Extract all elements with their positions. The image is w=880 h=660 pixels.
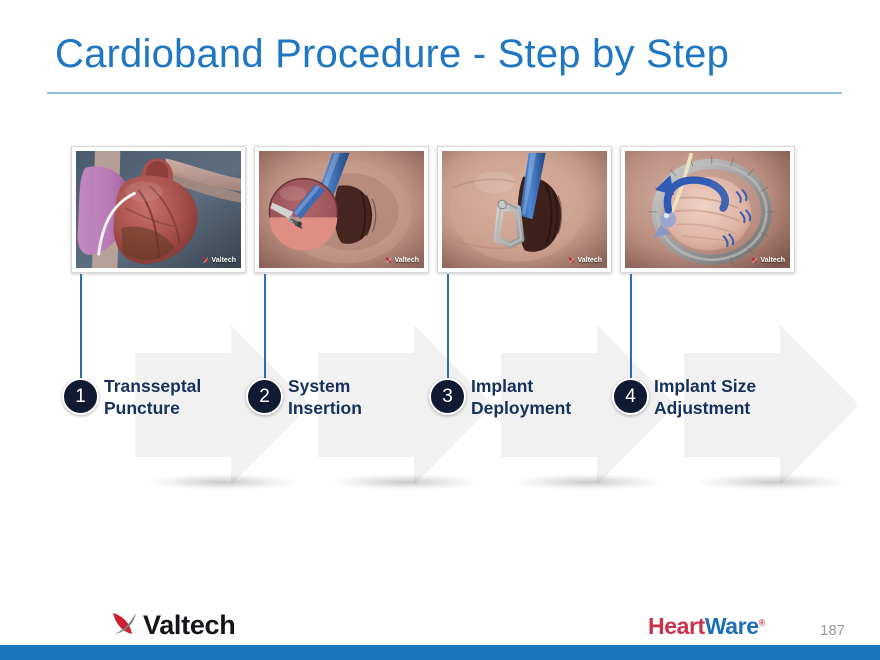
valtech-logo-text: Valtech [143,610,235,641]
valtech-mark-icon [568,256,575,264]
step-image-4-inner: Valtech [625,151,790,268]
valtech-swoosh-icon [751,256,758,264]
step-image-2[interactable]: Valtech [254,146,429,273]
connector-line-4 [630,274,632,382]
valtech-watermark-4: Valtech [751,256,785,264]
connector-line-2 [264,274,266,382]
valtech-watermark-2: Valtech [385,256,419,264]
step-image-4[interactable]: Valtech [620,146,795,273]
step-label-4-line2: Adjustment [654,397,756,419]
valtech-swoosh-icon [385,256,392,264]
step-label-4-line1: Implant Size [654,375,756,397]
implant-deployment-illustration-svg [442,151,607,268]
step-label-2: System Insertion [288,375,362,420]
heartware-registered-mark: ® [759,617,765,627]
valtech-swoosh-icon [568,256,575,264]
valtech-watermark-1: Valtech [202,256,236,264]
step-label-1: Transseptal Puncture [104,375,201,420]
valtech-logo-icon [110,608,140,643]
implant-size-adjustment-illustration-svg [625,151,790,268]
valtech-swoosh-icon [110,608,140,638]
chevron-shadow-1 [148,474,298,490]
step-image-3-inner: Valtech [442,151,607,268]
heart-catheter-illustration-svg [76,151,241,268]
chevron-shadow-3 [514,474,664,490]
heartware-logo-ware: Ware [705,613,759,639]
step-label-1-line1: Transseptal [104,375,201,397]
step-number-2[interactable]: 2 [246,378,283,415]
valtech-mark-icon [751,256,758,264]
step-label-1-line2: Puncture [104,397,201,419]
step-label-3: Implant Deployment [471,375,571,420]
step-number-3[interactable]: 3 [429,378,466,415]
valtech-watermark-4-text: Valtech [760,257,785,264]
connector-line-1 [80,274,82,382]
valtech-mark-icon [202,256,209,264]
chevron-shadow-4 [697,474,847,490]
footer-bar [0,645,880,660]
valtech-watermark-1-text: Valtech [211,257,236,264]
page-number: 187 [820,622,845,639]
step-image-1[interactable]: Valtech [71,146,246,273]
heartware-logo: HeartWare® [648,613,765,640]
procedure-steps-diagram: Valtech [0,0,880,660]
step-number-4[interactable]: 4 [612,378,649,415]
valtech-mark-icon [385,256,392,264]
system-insertion-illustration-svg [259,151,424,268]
valtech-watermark-3: Valtech [568,256,602,264]
step-label-2-line2: Insertion [288,397,362,419]
heartware-logo-heart: Heart [648,613,705,639]
connector-line-3 [447,274,449,382]
valtech-watermark-3-text: Valtech [577,257,602,264]
valtech-logo: Valtech [110,608,235,643]
step-label-2-line1: System [288,375,362,397]
step-image-3[interactable]: Valtech [437,146,612,273]
step-image-2-inner: Valtech [259,151,424,268]
valtech-watermark-2-text: Valtech [394,257,419,264]
step-number-1[interactable]: 1 [62,378,99,415]
step-label-3-line1: Implant [471,375,571,397]
valtech-swoosh-icon [202,256,209,264]
chevron-shadow-2 [331,474,481,490]
step-label-3-line2: Deployment [471,397,571,419]
step-image-1-inner: Valtech [76,151,241,268]
step-label-4: Implant Size Adjustment [654,375,756,420]
